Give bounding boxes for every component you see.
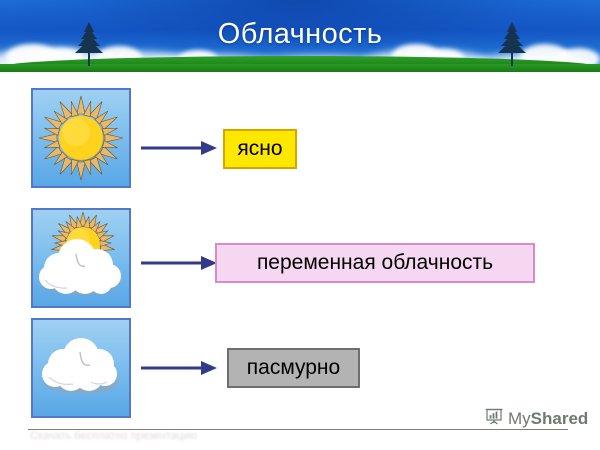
label-partly-cloudy: переменная облачность: [215, 243, 535, 283]
watermark-shared: Shared: [531, 409, 589, 428]
label-clear: ясно: [223, 129, 297, 169]
myshared-watermark: MyShared: [484, 406, 588, 431]
arrow-to-overcast-label: [141, 359, 217, 377]
sun-icon: [31, 88, 131, 188]
watermark-my: My: [508, 409, 531, 428]
page-title: Облачность: [0, 18, 600, 51]
arrow-to-clear-label: [141, 139, 217, 157]
sun-behind-cloud-icon: [31, 208, 131, 308]
presentation-board-icon: [484, 406, 504, 431]
arrow-to-partly-cloudy-label: [141, 254, 217, 272]
header-banner: Облачность: [0, 0, 600, 72]
label-overcast: пасмурно: [227, 348, 360, 388]
footer-ghost-text: Скачать бесплатно презентацию: [30, 430, 230, 443]
cloud-icon: [31, 318, 131, 418]
watermark-label: MyShared: [508, 409, 588, 429]
